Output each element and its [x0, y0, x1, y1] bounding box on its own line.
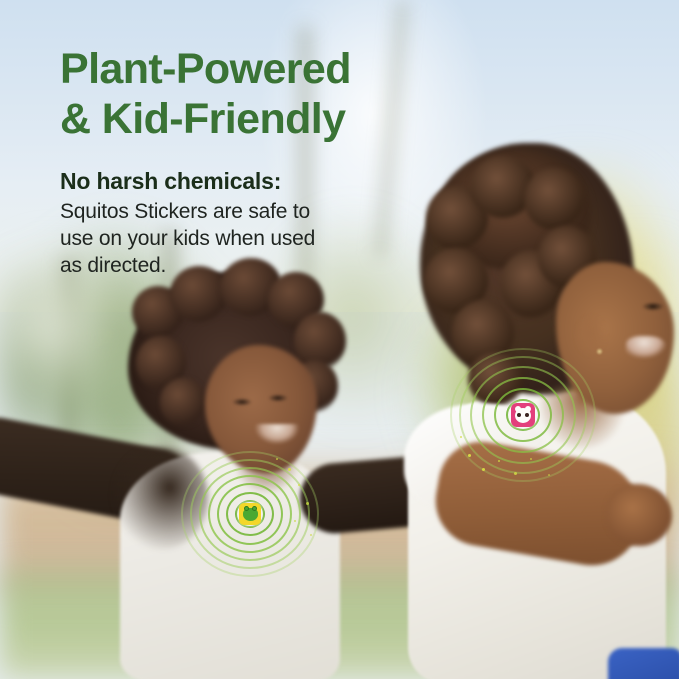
- body-copy: Squitos Stickers are safe to use on your…: [60, 198, 480, 279]
- right-child-shorts: [608, 648, 679, 679]
- headline-line-2: & Kid-Friendly: [60, 94, 480, 144]
- right-child-earring: [596, 348, 603, 355]
- body-line-1: Squitos Stickers are safe to: [60, 198, 480, 225]
- hair-curl: [468, 352, 524, 406]
- right-child-fist: [606, 484, 672, 546]
- hair-curl: [524, 168, 584, 230]
- body-line-2: use on your kids when used: [60, 225, 480, 252]
- left-child-shoulder: [112, 446, 208, 550]
- left-child-eye: [268, 394, 288, 402]
- body-line-3: as directed.: [60, 252, 480, 279]
- marketing-copy: Plant-Powered & Kid-Friendly No harsh ch…: [60, 44, 480, 279]
- subheadline: No harsh chemicals:: [60, 166, 480, 196]
- left-child-eye: [232, 398, 252, 406]
- hair-curl: [160, 378, 206, 426]
- headline: Plant-Powered & Kid-Friendly: [60, 44, 480, 144]
- headline-line-1: Plant-Powered: [60, 45, 351, 93]
- left-child-smile: [255, 424, 299, 444]
- right-child-eye: [642, 302, 664, 311]
- product-lifestyle-image: Plant-Powered & Kid-Friendly No harsh ch…: [0, 0, 679, 679]
